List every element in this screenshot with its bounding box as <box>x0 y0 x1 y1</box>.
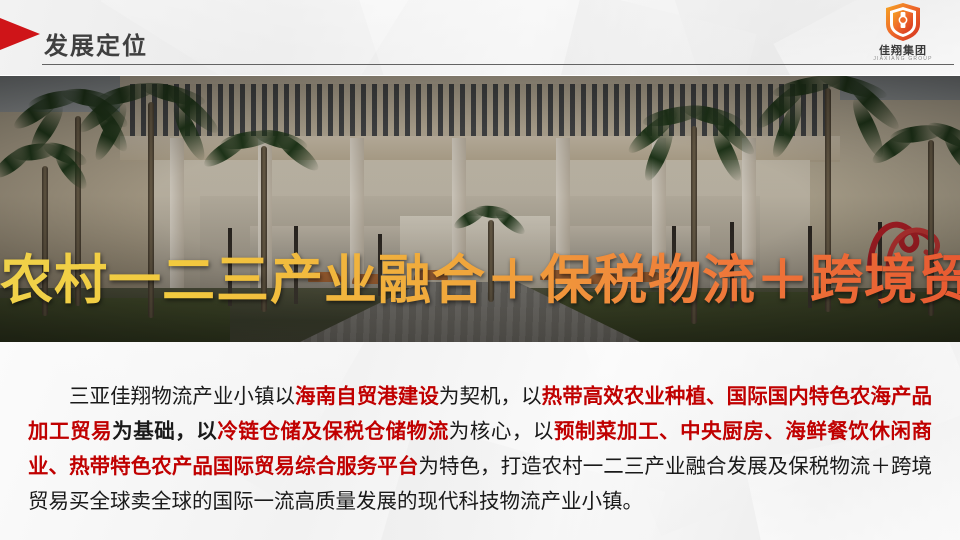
slide: 发展定位 佳翔集团 JIAXIANG GROUP <box>0 0 960 540</box>
paragraph-segment-0: 三亚佳翔物流产业小镇以 <box>69 385 295 408</box>
paragraph-segment-1: 海南自贸港建设 <box>295 385 439 408</box>
description-panel: 三亚佳翔物流产业小镇以海南自贸港建设为契机，以热带高效农业种植、国际国内特色农海… <box>0 342 960 540</box>
description-paragraph: 三亚佳翔物流产业小镇以海南自贸港建设为契机，以热带高效农业种植、国际国内特色农海… <box>28 379 932 519</box>
hero-image: 农村一二三产业融合＋保税物流＋跨境贸易 <box>0 76 960 342</box>
page-title: 发展定位 <box>44 26 148 61</box>
hero-headline: 农村一二三产业融合＋保税物流＋跨境贸易 <box>0 238 960 314</box>
paragraph-segment-4: 为基础，以 <box>112 420 217 443</box>
logo-name-en: JIAXIANG GROUP <box>864 56 942 62</box>
slide-header: 发展定位 佳翔集团 JIAXIANG GROUP <box>0 0 960 75</box>
company-logo: 佳翔集团 JIAXIANG GROUP <box>864 3 942 69</box>
header-divider <box>42 64 954 65</box>
shield-icon <box>886 3 920 41</box>
paragraph-segment-5: 冷链仓储及保税仓储物流 <box>217 420 448 443</box>
red-arrow-icon <box>0 18 40 50</box>
paragraph-segment-6: 为核心，以 <box>449 420 554 443</box>
paragraph-segment-2: 为契机，以 <box>439 385 542 408</box>
